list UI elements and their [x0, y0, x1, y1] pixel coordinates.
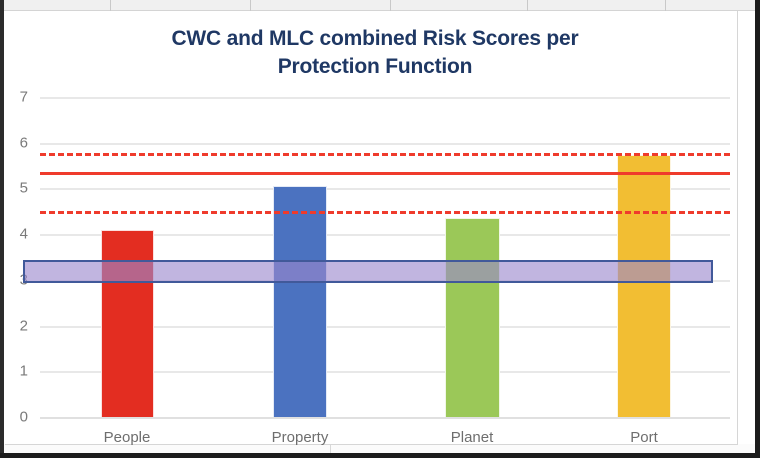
window-bottom-border	[0, 453, 760, 458]
spreadsheet-column-divider	[527, 0, 528, 11]
x-axis-label-port: Port	[630, 429, 658, 446]
chart-object[interactable]: CWC and MLC combined Risk Scores per Pro…	[5, 11, 738, 445]
chart-title: CWC and MLC combined Risk Scores per Pro…	[45, 25, 705, 80]
chart-screenshot: CWC and MLC combined Risk Scores per Pro…	[0, 0, 760, 458]
x-axis-label-people: People	[104, 429, 151, 446]
chart-title-line-2: Protection Function	[45, 53, 705, 81]
y-axis-tick-label-1: 1	[20, 363, 28, 380]
spreadsheet-column-divider	[250, 0, 251, 11]
gridline-7: 7	[40, 97, 730, 99]
y-axis-tick-label-4: 4	[20, 226, 28, 243]
y-axis-tick-label-2: 2	[20, 317, 28, 334]
spreadsheet-column-divider	[390, 0, 391, 11]
spreadsheet-column-divider	[665, 0, 666, 11]
y-axis-tick-label-5: 5	[20, 180, 28, 197]
bar-port[interactable]	[617, 155, 671, 419]
y-axis-tick-label-0: 0	[20, 409, 28, 426]
upper-control-dashed-line	[40, 153, 730, 156]
upper-solid-threshold-line	[40, 172, 730, 175]
chart-title-line-1: CWC and MLC combined Risk Scores per	[45, 25, 705, 53]
bar-property[interactable]	[273, 186, 327, 419]
gridline-6: 6	[40, 143, 730, 145]
x-axis-label-property: Property	[272, 429, 329, 446]
tolerance-band[interactable]	[23, 260, 713, 283]
x-axis-line	[40, 417, 730, 419]
y-axis-tick-label-7: 7	[20, 89, 28, 106]
plot-area: 0 1 2 3 4 5 6 7	[40, 99, 730, 419]
spreadsheet-column-divider	[110, 0, 111, 11]
window-left-border	[0, 0, 4, 458]
lower-control-dashed-line	[40, 211, 730, 214]
x-axis-label-planet: Planet	[451, 429, 494, 446]
spreadsheet-top-strip	[0, 0, 760, 11]
y-axis-tick-label-6: 6	[20, 134, 28, 151]
bar-planet[interactable]	[445, 218, 500, 419]
window-right-border	[755, 0, 760, 458]
